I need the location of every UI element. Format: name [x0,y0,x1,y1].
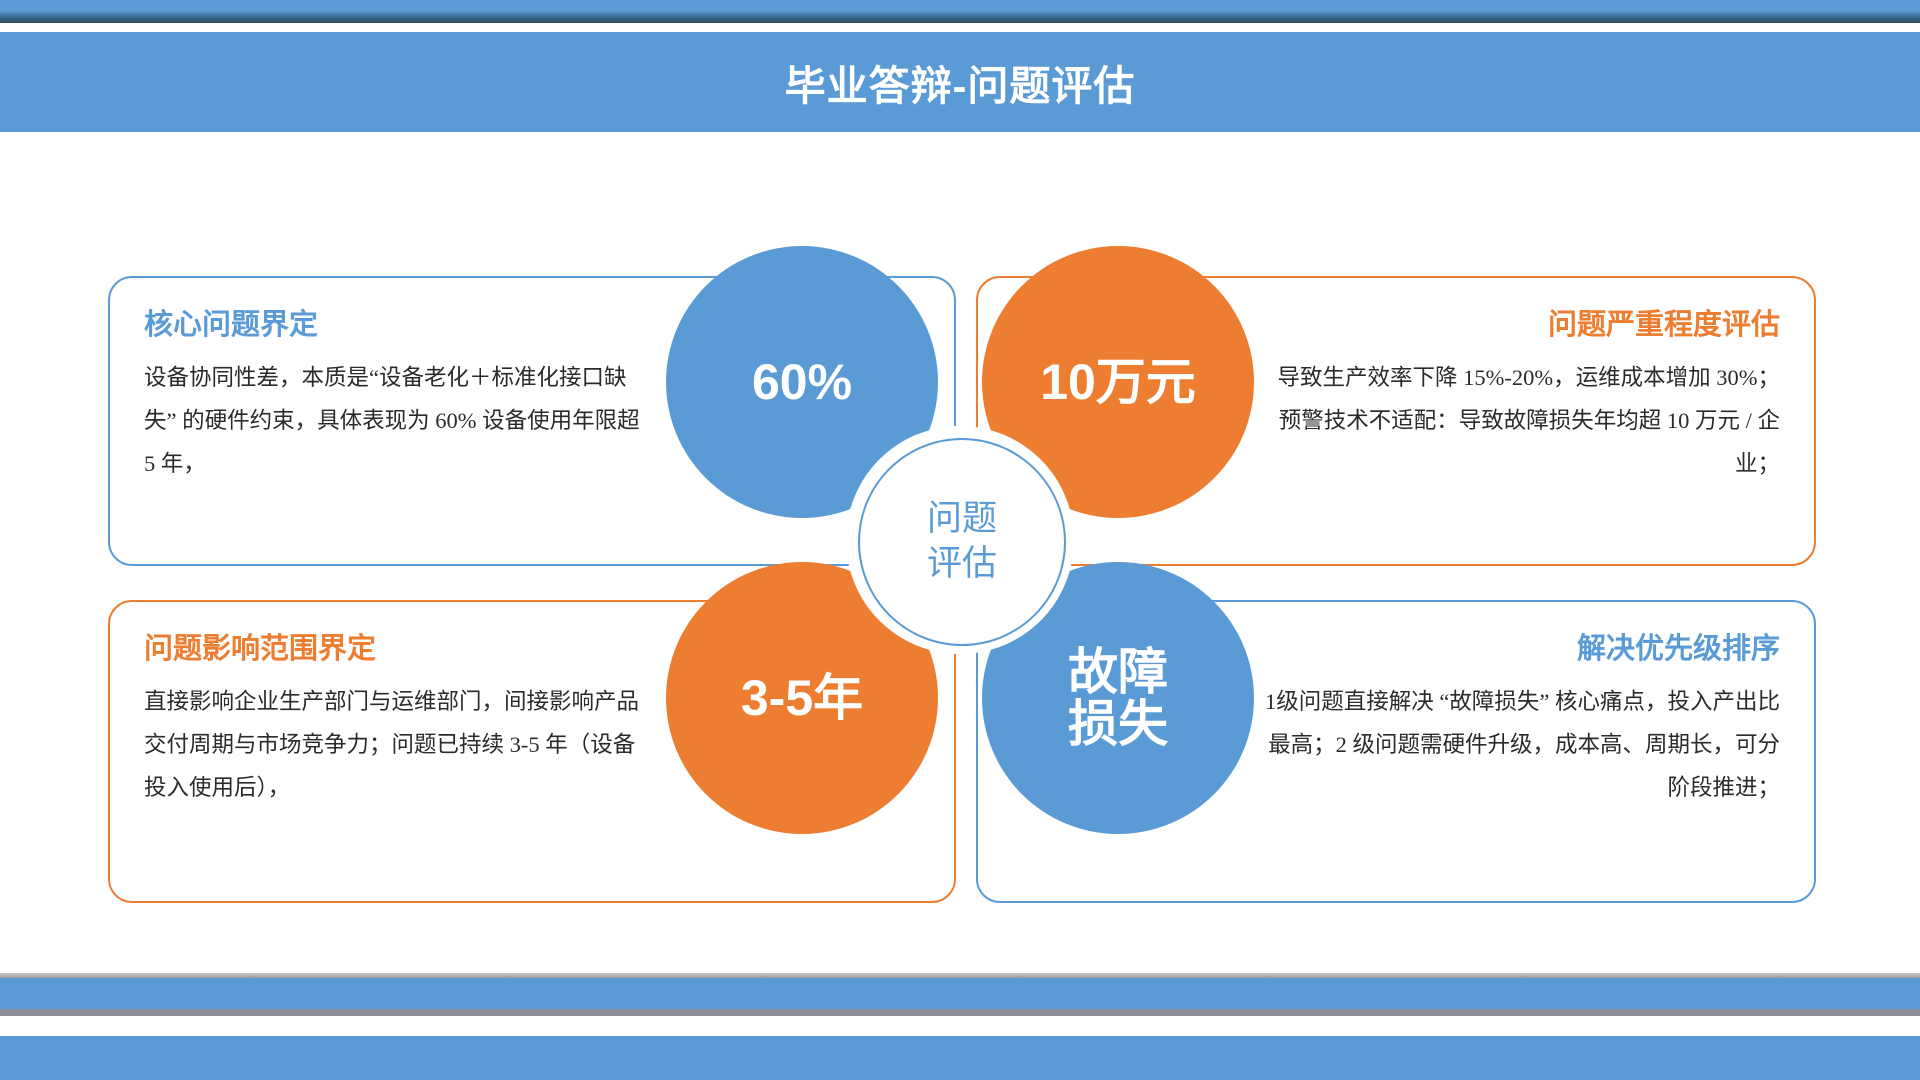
bottom-white-gap [0,1016,1920,1036]
top-gradient-stripe [0,11,1920,23]
bottom-accent-bar-lower [0,1036,1920,1080]
petal-label-line2: 损失 [1068,696,1168,752]
slide-header: 毕业答辩-问题评估 [0,32,1920,132]
card-body-impact-scope-definition: 直接影响企业生产部门与运维部门，间接影响产品交付周期与市场竞争力；问题已持续 3… [144,680,644,810]
petal-label-line1: 故障 [1068,644,1168,700]
petal-label: 3-5年 [741,672,863,725]
petal-label-multiline: 故障 损失 [1068,646,1168,751]
bottom-accent-bar-upper [0,978,1920,1009]
center-hub-label-line2: 评估 [927,544,997,583]
top-white-gap [0,23,1920,32]
center-hub-label-line1: 问题 [927,499,997,538]
center-hub-ring[interactable]: 问题 评估 [858,438,1066,646]
petal-label: 60% [752,356,852,409]
center-hub-label: 问题 评估 [927,497,997,587]
page-title: 毕业答辩-问题评估 [785,52,1136,112]
top-accent-bar [0,0,1920,11]
card-body-core-problem-definition: 设备协同性差，本质是“设备老化＋标准化接口缺失” 的硬件约束，具体表现为 60%… [144,356,644,486]
card-body-resolution-priority: 1级问题直接解决 “故障损失” 核心痛点，投入产出比最高；2 级问题需硬件升级，… [1260,680,1780,810]
bottom-divider-lower [0,1009,1920,1016]
card-body-severity-assessment: 导致生产效率下降 15%-20%，运维成本增加 30%；预警技术不适配：导致故障… [1260,356,1780,486]
petal-label: 10万元 [1040,356,1196,409]
